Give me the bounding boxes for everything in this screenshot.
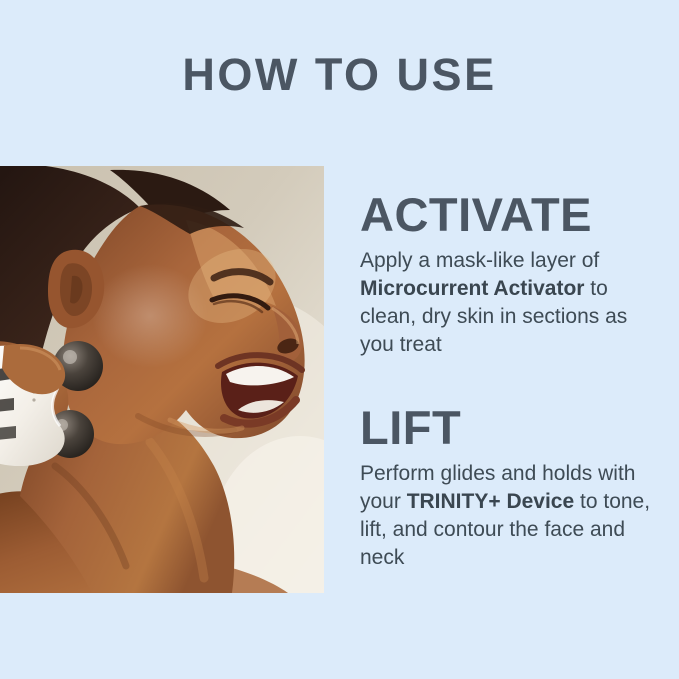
step-activate-body-part-1: Apply a mask-like layer of: [360, 249, 599, 272]
step-activate-body: Apply a mask-like layer of Microcurrent …: [360, 247, 660, 359]
photo-stage: [0, 166, 324, 593]
how-to-use-poster: HOW TO USE: [0, 0, 679, 679]
page-title: HOW TO USE: [0, 52, 679, 97]
instructions-column: ACTIVATE Apply a mask-like layer of Micr…: [360, 190, 660, 572]
product-usage-photo: [0, 166, 324, 593]
step-lift-heading: LIFT: [360, 403, 660, 452]
step-activate-heading: ACTIVATE: [360, 190, 660, 239]
photo-illustration: [0, 166, 324, 593]
step-lift: LIFT Perform glides and holds with your …: [360, 403, 660, 572]
step-activate: ACTIVATE Apply a mask-like layer of Micr…: [360, 190, 660, 359]
step-lift-body: Perform glides and holds with your TRINI…: [360, 460, 660, 572]
step-lift-body-emphasis: TRINITY+ Device: [407, 490, 574, 513]
step-activate-body-emphasis: Microcurrent Activator: [360, 277, 584, 300]
